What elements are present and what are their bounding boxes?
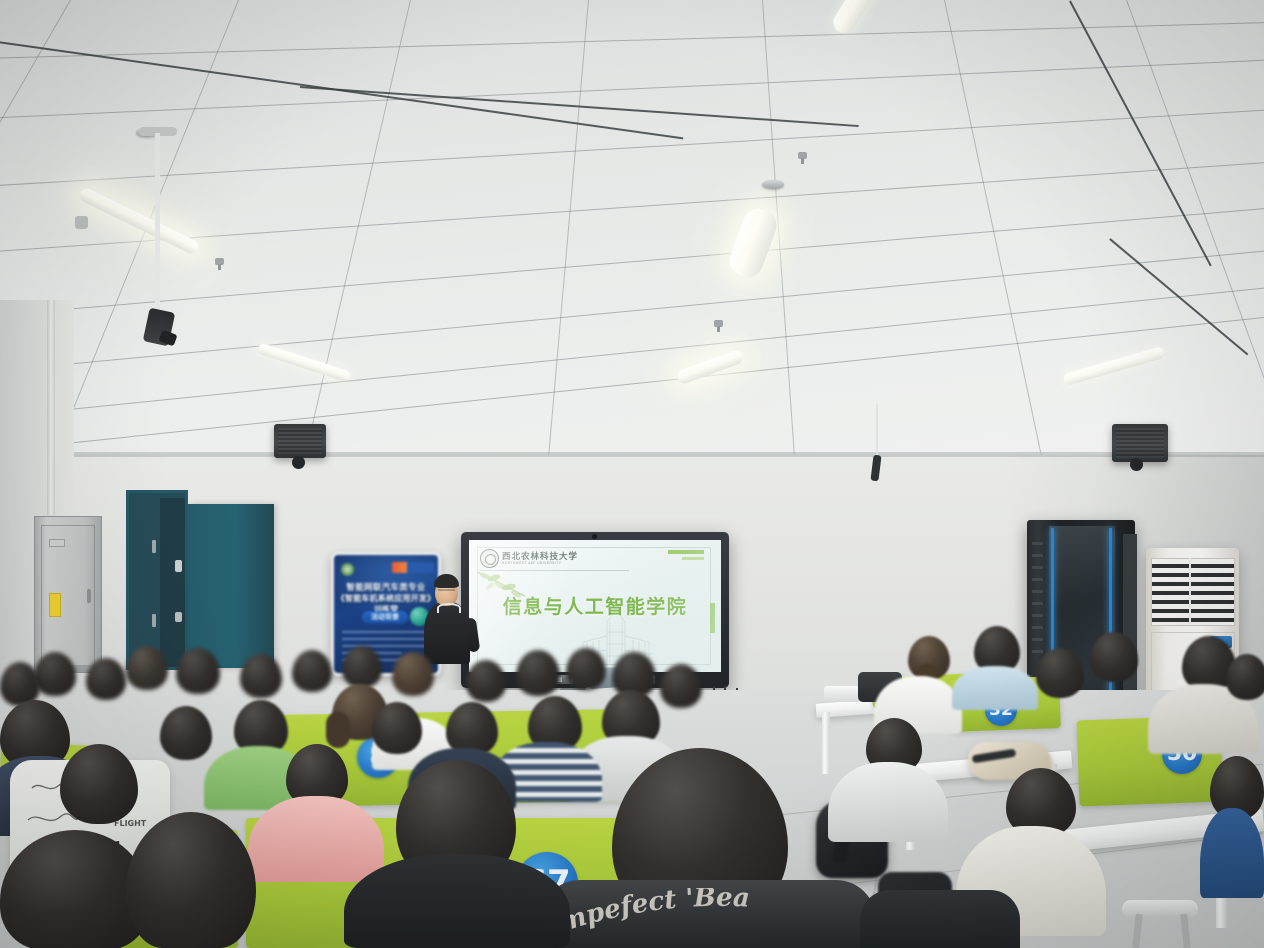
presenter-hair: [434, 574, 459, 588]
student-head: [1090, 632, 1138, 682]
student-head: [566, 648, 606, 690]
student-torso: [828, 762, 948, 842]
ponytail: [326, 712, 350, 748]
student-torso: [860, 890, 1020, 948]
student-head: [660, 664, 702, 708]
speaker-grill: [278, 428, 322, 454]
student-head: [342, 646, 382, 688]
organization-logo-icon: [341, 563, 354, 576]
ac-grill-divider: [1189, 558, 1191, 624]
student-torso: [952, 666, 1038, 710]
sponsor-logo-icon: [392, 562, 434, 573]
projector-pole: [155, 133, 160, 323]
rack-vent: [1032, 614, 1043, 617]
wall-speaker: [1112, 424, 1168, 462]
rack-vent: [1032, 602, 1043, 605]
hazard-warning-icon: [49, 593, 61, 617]
wall-speaker: [274, 424, 326, 458]
hoodie-script-text: mpefect 'Bea: [556, 888, 856, 940]
banner-body-line: [342, 638, 428, 640]
open-door-leaf[interactable]: [188, 504, 274, 668]
rack-vent: [1032, 626, 1043, 629]
door-jamb: [126, 490, 188, 670]
door-lock[interactable]: [175, 612, 182, 622]
rack-vent: [1032, 542, 1043, 545]
banner-section-button: 活动背景: [362, 611, 408, 624]
hanging-cable: [876, 404, 878, 460]
smoke-detector: [762, 180, 784, 189]
student-head: [86, 658, 126, 700]
student-head: [292, 650, 332, 692]
speaker-grill: [1116, 428, 1164, 458]
svg-text:FLIGHT: FLIGHT: [114, 819, 147, 828]
sprinkler-head: [215, 258, 224, 265]
wall-conduit-pipe: [47, 300, 55, 515]
student-head: [240, 654, 282, 698]
door-hinge: [152, 540, 156, 553]
webcam-icon: [592, 534, 597, 539]
sprinkler-head: [798, 152, 807, 159]
door-hinge: [152, 614, 156, 627]
student-head: [160, 706, 212, 760]
student-head: [34, 652, 76, 696]
student-head: [176, 648, 220, 694]
classroom-photo: 智能网联汽车类专业 《智能车机系统应用开发》训练营 活动背景: [0, 0, 1264, 948]
rack-vent: [1032, 638, 1043, 641]
speaker-mount: [292, 456, 305, 469]
presenter-collar: [437, 603, 461, 613]
student-head: [392, 652, 434, 696]
speaker-mount: [1130, 458, 1143, 471]
banner-body-line: [342, 631, 430, 633]
student-head: [516, 650, 560, 696]
sprinkler-head: [714, 320, 723, 327]
svg-text:mpefect 'Bea: mpefect 'Bea: [556, 888, 750, 938]
cabinet-label: [49, 539, 65, 547]
student-head: [466, 660, 506, 702]
desk-leg: [822, 712, 830, 774]
rack-vent: [1032, 578, 1043, 581]
cabinet-latch[interactable]: [87, 589, 91, 603]
student-head: [1226, 654, 1264, 700]
student-head: [126, 646, 168, 690]
student-head: [372, 702, 422, 754]
rack-vent: [1032, 650, 1043, 653]
ceiling: [0, 0, 1264, 530]
ac-vent-grill: [1151, 558, 1235, 626]
banner-line1: 智能网联汽车类专业: [334, 581, 438, 593]
light-end-cap: [75, 216, 88, 229]
rack-vent: [1032, 590, 1043, 593]
rack-vent: [1032, 554, 1043, 557]
rack-vent: [1032, 566, 1043, 569]
eyeglasses-icon: [437, 588, 456, 592]
door-handle[interactable]: [175, 560, 182, 572]
student-head: [1036, 648, 1084, 698]
electrical-cabinet[interactable]: [34, 516, 102, 673]
